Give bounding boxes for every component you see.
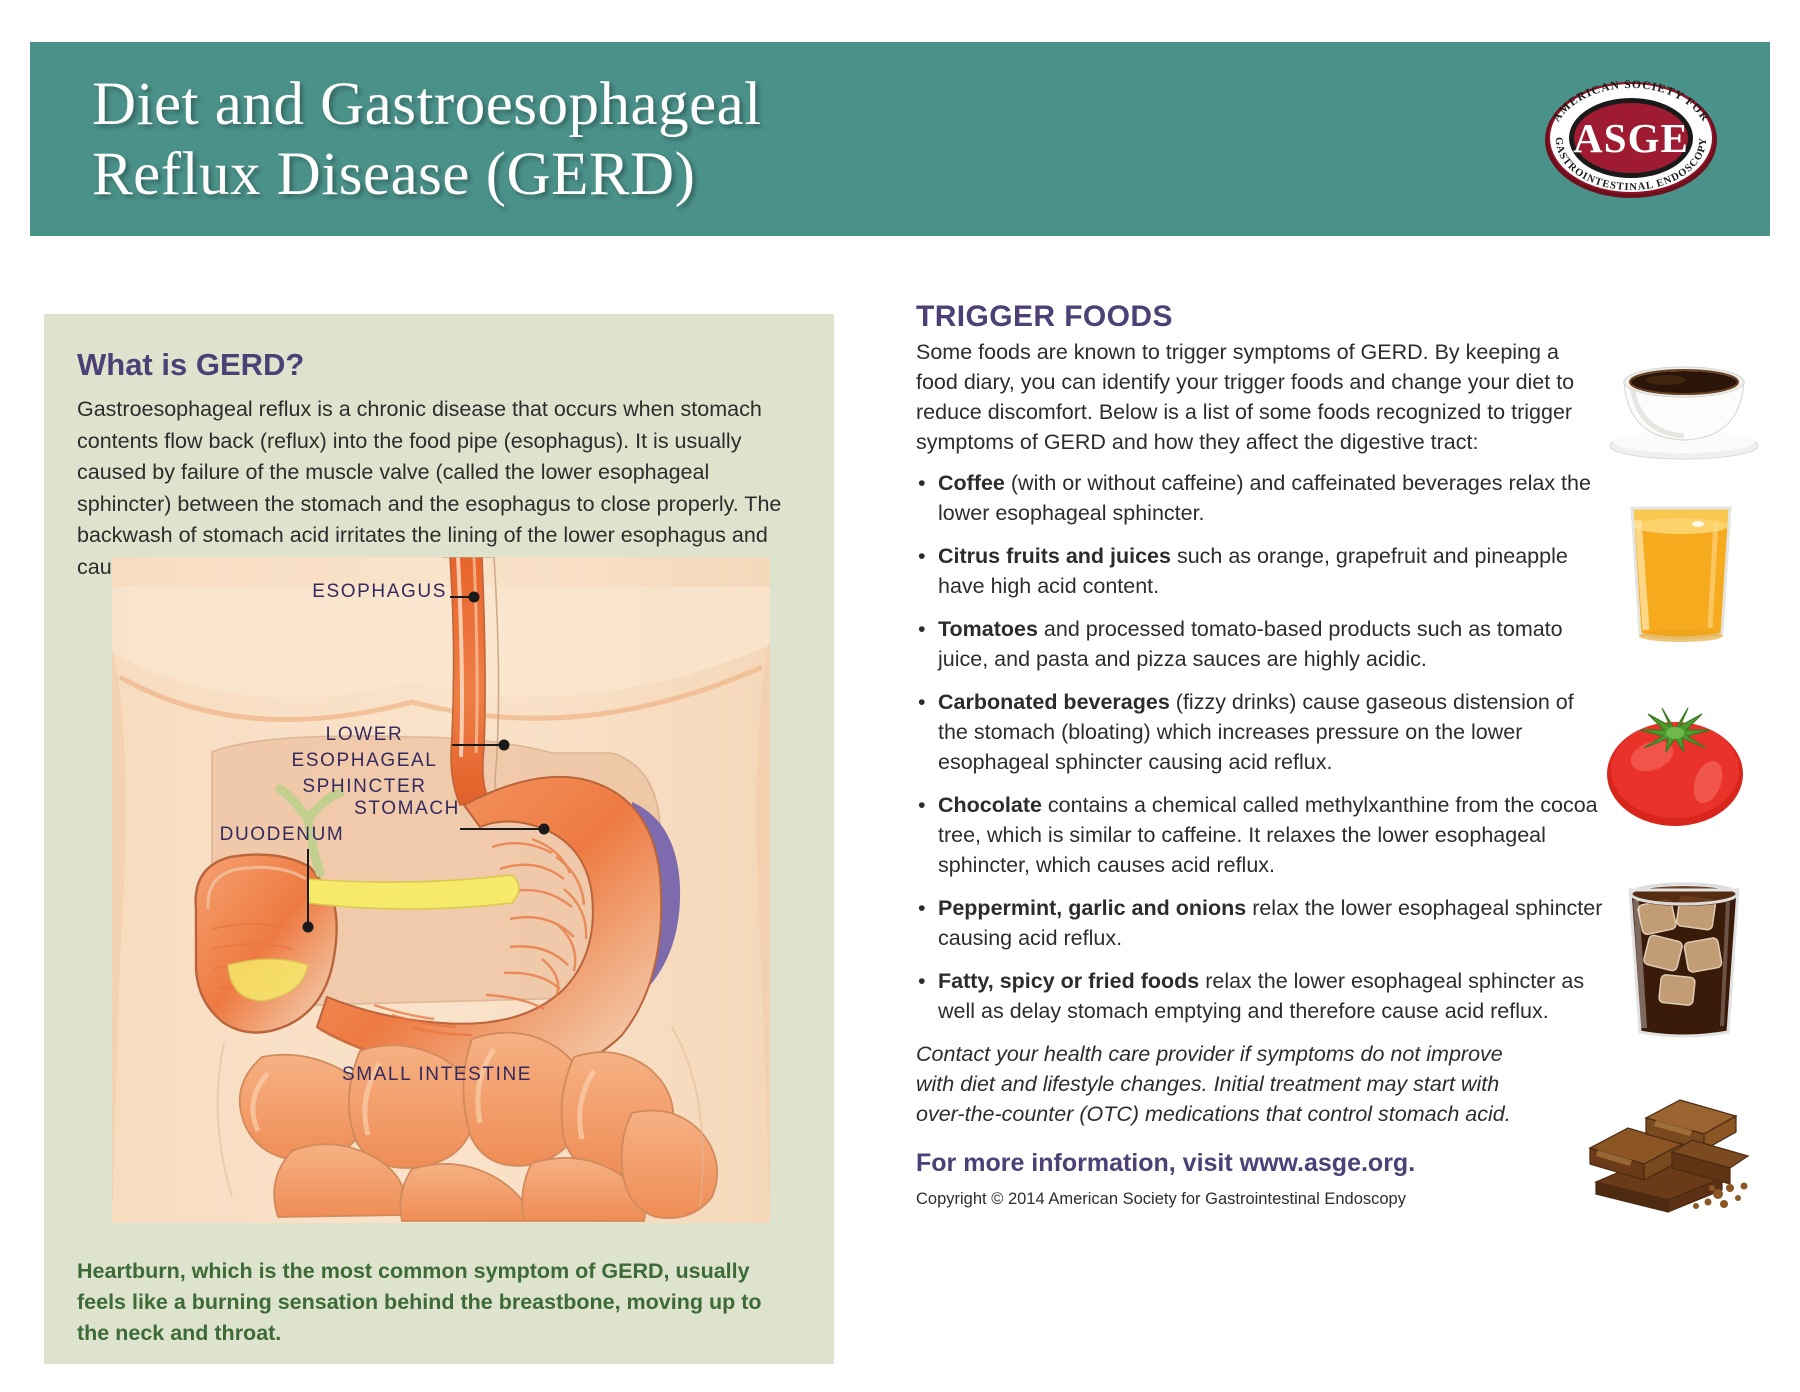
- trigger-food-term: Citrus fruits and juices: [938, 544, 1171, 568]
- asge-logo-icon: AMERICAN SOCIETY FOR GASTROINTESTINAL EN…: [1526, 66, 1736, 206]
- bullet-icon: •: [918, 893, 926, 923]
- label-duodenum: DUODENUM: [202, 822, 362, 848]
- what-is-gerd-heading: What is GERD?: [77, 347, 304, 383]
- asge-logo: AMERICAN SOCIETY FOR GASTROINTESTINAL EN…: [1526, 66, 1736, 206]
- what-is-gerd-panel: What is GERD? Gastroesophageal reflux is…: [44, 314, 834, 1364]
- tomato-photo: [1600, 700, 1750, 830]
- page-title: Diet and Gastroesophageal Reflux Disease…: [92, 70, 762, 210]
- trigger-food-term: Carbonated beverages: [938, 690, 1170, 714]
- logo-acronym: ASGE: [1573, 115, 1689, 161]
- trigger-foods-intro: Some foods are known to trigger symptoms…: [916, 337, 1606, 457]
- label-esophagus: ESOPHAGUS: [282, 579, 447, 605]
- label-small-intestine: SMALL INTESTINE: [312, 1062, 562, 1088]
- label-lower-esophageal-sphincter: LOWER ESOPHAGEAL SPHINCTER: [272, 722, 457, 800]
- label-stomach: STOMACH: [330, 796, 460, 822]
- coffee-cup-photo: [1596, 352, 1772, 462]
- trigger-food-item: •Citrus fruits and juices such as orange…: [916, 541, 1606, 601]
- trigger-food-term: Coffee: [938, 471, 1005, 495]
- trigger-food-description: (with or without caffeine) and caffeinat…: [938, 471, 1591, 525]
- provider-note: Contact your health care provider if sym…: [916, 1039, 1536, 1129]
- digestive-system-diagram: ESOPHAGUS LOWER ESOPHAGEAL SPHINCTER STO…: [112, 557, 770, 1223]
- trigger-food-term: Tomatoes: [938, 617, 1038, 641]
- cola-glass-photo: [1616, 880, 1752, 1042]
- trigger-food-item: •Tomatoes and processed tomato-based pro…: [916, 614, 1606, 674]
- what-is-gerd-body: Gastroesophageal reflux is a chronic dis…: [77, 394, 809, 583]
- bullet-icon: •: [918, 966, 926, 996]
- more-information-line[interactable]: For more information, visit www.asge.org…: [916, 1149, 1606, 1178]
- bullet-icon: •: [918, 790, 926, 820]
- orange-juice-photo: [1616, 498, 1746, 644]
- bullet-icon: •: [918, 468, 926, 498]
- bullet-icon: •: [918, 541, 926, 571]
- anatomy-illustration: [112, 557, 770, 1223]
- trigger-food-term: Fatty, spicy or fried foods: [938, 969, 1199, 993]
- bullet-icon: •: [918, 687, 926, 717]
- chocolate-photo: [1572, 1090, 1762, 1230]
- trigger-food-item: •Chocolate contains a chemical called me…: [916, 790, 1606, 880]
- heartburn-caption: Heartburn, which is the most common symp…: [77, 1256, 797, 1349]
- trigger-food-item: •Peppermint, garlic and onions relax the…: [916, 893, 1606, 953]
- trigger-foods-heading: TRIGGER FOODS: [916, 300, 1606, 334]
- trigger-food-item: •Fatty, spicy or fried foods relax the l…: [916, 966, 1606, 1026]
- trigger-foods-section: TRIGGER FOODS Some foods are known to tr…: [916, 300, 1606, 1209]
- bullet-icon: •: [918, 614, 926, 644]
- trigger-food-item: •Carbonated beverages (fizzy drinks) cau…: [916, 687, 1606, 777]
- page-header: Diet and Gastroesophageal Reflux Disease…: [30, 42, 1770, 236]
- trigger-food-item: •Coffee (with or without caffeine) and c…: [916, 468, 1606, 528]
- trigger-food-term: Chocolate: [938, 793, 1042, 817]
- trigger-foods-list: •Coffee (with or without caffeine) and c…: [916, 468, 1606, 1026]
- copyright-line: Copyright © 2014 American Society for Ga…: [916, 1190, 1606, 1209]
- trigger-food-term: Peppermint, garlic and onions: [938, 896, 1246, 920]
